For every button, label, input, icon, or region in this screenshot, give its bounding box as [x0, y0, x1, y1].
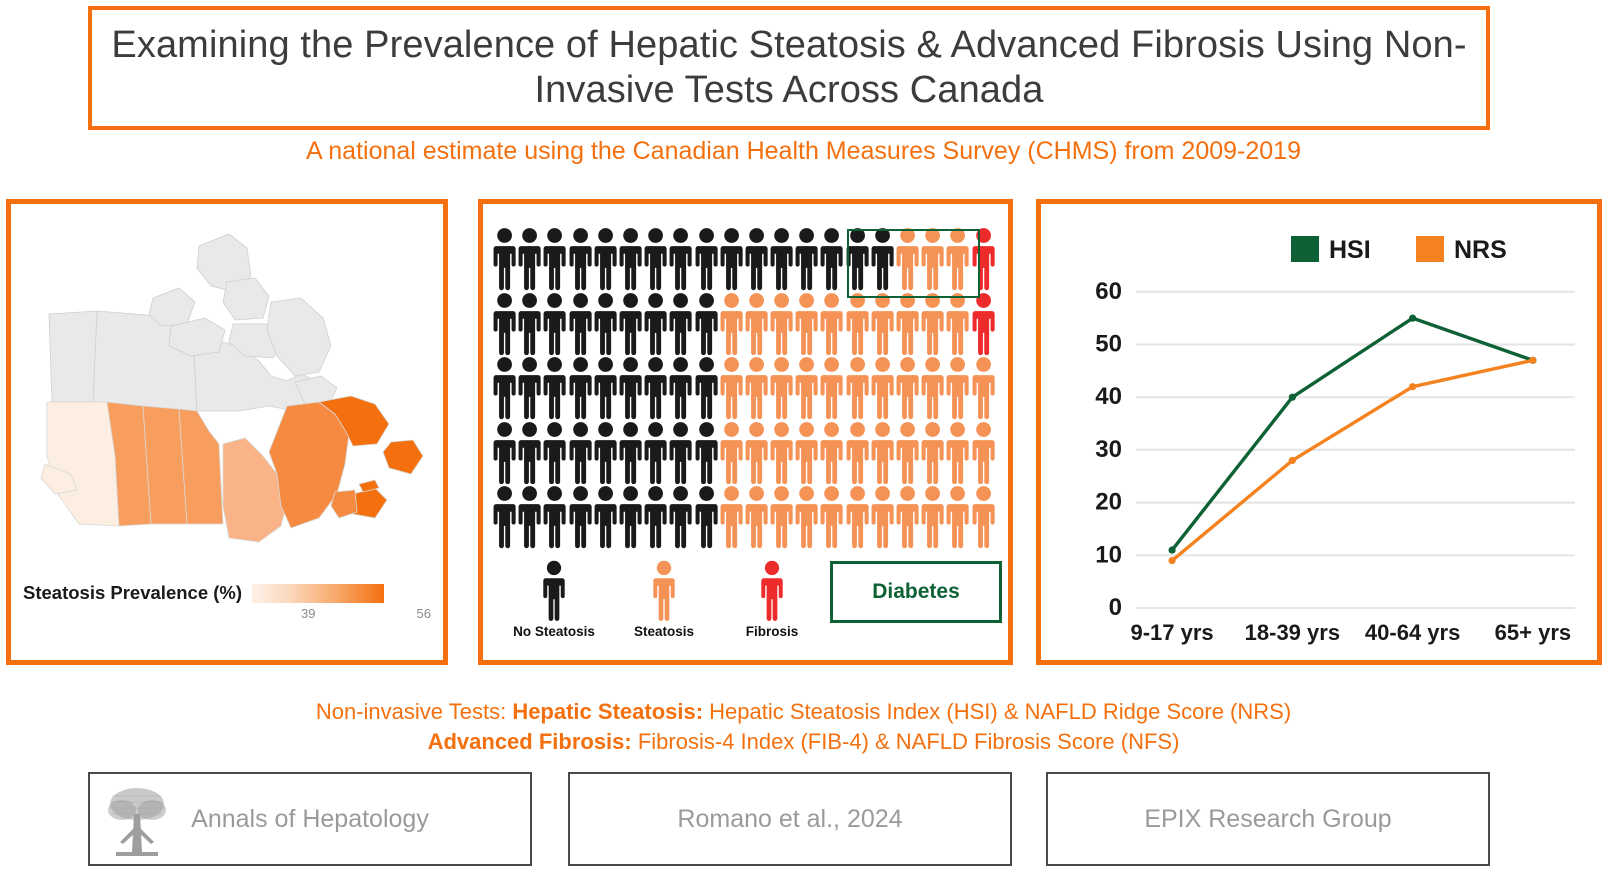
y-axis-tick-label: 30: [1095, 436, 1122, 463]
age-prevalence-line-chart: 01020304050609-17 yrs18-39 yrs40-64 yrs6…: [1041, 204, 1597, 660]
pictogram-grid: [492, 226, 996, 549]
person-icon: [568, 291, 593, 356]
person-icon: [794, 484, 819, 549]
person-icon: [845, 420, 870, 485]
legend-label-fibrosis: Fibrosis: [720, 624, 824, 639]
map-panel: Steatosis Prevalence (%) 39 56: [6, 199, 448, 665]
data-point: [1409, 315, 1416, 322]
map-legend-ticks: 39 56: [299, 606, 431, 622]
person-icon: [971, 226, 996, 291]
x-axis-tick-label: 9-17 yrs: [1130, 620, 1213, 645]
map-legend-min-value: 39: [301, 606, 315, 621]
citation-text: Romano et al., 2024: [677, 805, 902, 834]
person-icon: [643, 355, 668, 420]
y-axis-tick-label: 50: [1095, 331, 1122, 358]
region-british-columbia: [47, 402, 119, 526]
series-line-nrs: [1172, 360, 1533, 560]
person-icon: [502, 559, 606, 621]
person-icon: [593, 226, 618, 291]
chart-panel: 01020304050609-17 yrs18-39 yrs40-64 yrs6…: [1036, 199, 1602, 665]
person-icon: [618, 291, 643, 356]
person-icon: [719, 355, 744, 420]
person-icon: [612, 559, 716, 621]
person-icon: [794, 291, 819, 356]
person-icon: [920, 226, 945, 291]
annals-of-hepatology-logo-icon: [100, 782, 174, 860]
person-icon: [492, 226, 517, 291]
data-point: [1168, 546, 1175, 553]
person-icon: [492, 420, 517, 485]
person-icon: [618, 484, 643, 549]
person-icon: [895, 291, 920, 356]
footer-notes: Non-invasive Tests: Hepatic Steatosis: H…: [0, 697, 1607, 756]
person-icon: [719, 484, 744, 549]
citation-box: Romano et al., 2024: [568, 772, 1012, 866]
person-icon: [870, 420, 895, 485]
person-icon: [870, 355, 895, 420]
person-icon: [769, 355, 794, 420]
person-icon: [694, 420, 719, 485]
person-icon: [593, 291, 618, 356]
person-icon: [719, 420, 744, 485]
data-point: [1289, 394, 1296, 401]
journal-box: Annals of Hepatology: [88, 772, 532, 866]
person-icon: [920, 291, 945, 356]
legend-item-fibrosis: Fibrosis: [720, 559, 824, 639]
map-legend-gradient-bar: [252, 584, 384, 603]
person-icon: [971, 420, 996, 485]
y-axis-tick-label: 60: [1095, 278, 1122, 305]
legend-swatch-hsi: [1291, 236, 1319, 262]
person-icon: [920, 355, 945, 420]
person-icon: [643, 291, 668, 356]
person-icon: [945, 226, 970, 291]
x-axis-tick-label: 65+ yrs: [1495, 620, 1571, 645]
person-icon: [542, 291, 567, 356]
person-icon: [755, 559, 789, 621]
legend-item-no-steatosis: No Steatosis: [502, 559, 606, 639]
canada-choropleth-map: [19, 206, 444, 576]
footer-line1-prefix: Non-invasive Tests:: [316, 699, 512, 724]
person-icon: [870, 226, 895, 291]
footer-line1-rest: Hepatic Steatosis Index (HSI) & NAFLD Ri…: [703, 699, 1291, 724]
person-icon: [568, 355, 593, 420]
region-nunavut-islands-4: [223, 278, 269, 320]
person-icon: [819, 291, 844, 356]
person-icon: [769, 420, 794, 485]
person-icon: [647, 559, 681, 621]
person-icon: [845, 484, 870, 549]
person-icon: [971, 484, 996, 549]
person-icon: [744, 226, 769, 291]
y-axis-tick-label: 40: [1095, 383, 1122, 410]
person-icon: [568, 420, 593, 485]
person-icon: [769, 291, 794, 356]
person-icon: [517, 420, 542, 485]
region-manitoba: [179, 409, 223, 524]
person-icon: [719, 291, 744, 356]
person-icon: [794, 355, 819, 420]
person-icon: [870, 291, 895, 356]
person-icon: [819, 484, 844, 549]
data-point: [1409, 383, 1416, 390]
footer-line2-bold: Advanced Fibrosis:: [428, 729, 632, 754]
person-icon: [668, 420, 693, 485]
person-icon: [542, 226, 567, 291]
legend-label-nrs: NRS: [1454, 236, 1507, 264]
person-icon: [668, 355, 693, 420]
person-icon: [895, 420, 920, 485]
person-icon: [568, 226, 593, 291]
person-icon: [643, 226, 668, 291]
person-icon: [719, 226, 744, 291]
person-icon: [517, 291, 542, 356]
y-axis-tick-label: 20: [1095, 489, 1122, 516]
footer-line1-bold: Hepatic Steatosis:: [512, 699, 703, 724]
region-newfoundland: [383, 440, 423, 474]
page-subtitle: A national estimate using the Canadian H…: [0, 137, 1607, 166]
person-icon: [794, 420, 819, 485]
person-icon: [694, 355, 719, 420]
map-legend-max-value: 56: [417, 606, 431, 621]
legend-label-no-steatosis: No Steatosis: [502, 624, 606, 639]
page-title: Examining the Prevalence of Hepatic Stea…: [92, 23, 1486, 113]
region-nunavut-islands-2: [149, 288, 195, 326]
person-icon: [593, 355, 618, 420]
region-nova-scotia: [353, 488, 387, 518]
research-group-box: EPIX Research Group: [1046, 772, 1490, 866]
data-point: [1289, 457, 1296, 464]
legend-label-steatosis: Steatosis: [612, 624, 716, 639]
title-box: Examining the Prevalence of Hepatic Stea…: [88, 6, 1490, 130]
person-icon: [668, 226, 693, 291]
person-icon: [769, 484, 794, 549]
person-icon: [845, 226, 870, 291]
person-icon: [537, 559, 571, 621]
person-icon: [971, 291, 996, 356]
person-icon: [945, 291, 970, 356]
person-icon: [593, 484, 618, 549]
person-icon: [769, 226, 794, 291]
person-icon: [517, 484, 542, 549]
person-icon: [895, 355, 920, 420]
person-icon: [819, 226, 844, 291]
person-icon: [542, 420, 567, 485]
person-icon: [744, 484, 769, 549]
data-point: [1529, 357, 1536, 364]
person-icon: [971, 355, 996, 420]
person-icon: [794, 226, 819, 291]
person-icon: [568, 484, 593, 549]
person-icon: [870, 484, 895, 549]
person-icon: [945, 484, 970, 549]
person-icon: [744, 291, 769, 356]
person-icon: [744, 420, 769, 485]
person-icon: [492, 355, 517, 420]
person-icon: [945, 355, 970, 420]
research-group-name: EPIX Research Group: [1144, 805, 1391, 834]
map-legend: Steatosis Prevalence (%) 39 56: [23, 582, 431, 652]
footer-line-1: Non-invasive Tests: Hepatic Steatosis: H…: [0, 697, 1607, 727]
journal-name: Annals of Hepatology: [191, 805, 429, 834]
person-icon: [720, 559, 824, 621]
person-icon: [618, 226, 643, 291]
pictogram-panel: No Steatosis Steatosis Fibrosis Diabetes: [478, 199, 1013, 665]
person-icon: [845, 355, 870, 420]
person-icon: [920, 420, 945, 485]
person-icon: [618, 355, 643, 420]
legend-label-diabetes: Diabetes: [872, 580, 960, 604]
legend-item-steatosis: Steatosis: [612, 559, 716, 639]
person-icon: [492, 291, 517, 356]
person-icon: [920, 484, 945, 549]
person-icon: [668, 291, 693, 356]
person-icon: [492, 484, 517, 549]
person-icon: [895, 484, 920, 549]
y-axis-tick-label: 10: [1095, 541, 1122, 568]
footer-line-2: Advanced Fibrosis: Fibrosis-4 Index (FIB…: [0, 727, 1607, 757]
y-axis-tick-label: 0: [1109, 594, 1122, 621]
x-axis-tick-label: 18-39 yrs: [1245, 620, 1340, 645]
person-icon: [945, 420, 970, 485]
person-icon: [517, 355, 542, 420]
person-icon: [694, 226, 719, 291]
person-icon: [694, 484, 719, 549]
person-icon: [819, 420, 844, 485]
person-icon: [668, 484, 693, 549]
person-icon: [895, 226, 920, 291]
person-icon: [845, 291, 870, 356]
person-icon: [618, 420, 643, 485]
person-icon: [517, 226, 542, 291]
person-icon: [744, 355, 769, 420]
x-axis-tick-label: 40-64 yrs: [1365, 620, 1460, 645]
footer-line2-rest: Fibrosis-4 Index (FIB-4) & NAFLD Fibrosi…: [632, 729, 1180, 754]
person-icon: [643, 484, 668, 549]
legend-label-hsi: HSI: [1329, 236, 1371, 264]
person-icon: [593, 420, 618, 485]
legend-swatch-nrs: [1416, 236, 1444, 262]
pictogram-legend: No Steatosis Steatosis Fibrosis Diabetes: [492, 559, 1002, 659]
data-point: [1168, 557, 1175, 564]
person-icon: [643, 420, 668, 485]
person-icon: [819, 355, 844, 420]
map-legend-label: Steatosis Prevalence (%): [23, 582, 242, 604]
person-icon: [542, 484, 567, 549]
region-baffin: [267, 298, 331, 376]
legend-item-diabetes: Diabetes: [830, 561, 1002, 623]
person-icon: [542, 355, 567, 420]
person-icon: [694, 291, 719, 356]
